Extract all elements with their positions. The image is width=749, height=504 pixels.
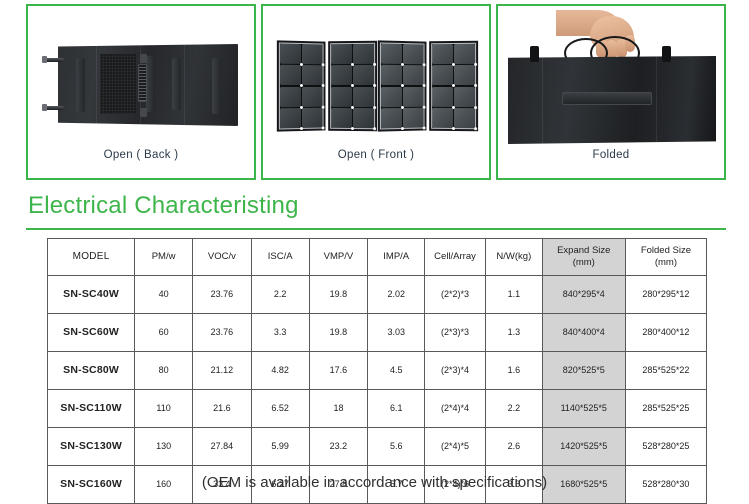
- table-row: SN-SC60W6023.763.319.83.03(2*3)*31.3840*…: [48, 314, 707, 352]
- oem-footnote: (OEM is available in accordance with spe…: [0, 472, 749, 493]
- table-header-row: MODEL PM/w VOC/v ISC/A VMP/V IMP/A Cell/…: [48, 239, 707, 276]
- folded-size-label: Folded Size: [641, 245, 691, 256]
- column-header-pm: PM/w: [135, 239, 193, 276]
- table-row: SN-SC40W4023.762.219.82.02(2*2)*31.1840*…: [48, 276, 707, 314]
- cell-expand-size: 840*295*4: [542, 276, 625, 314]
- cell-net-weight: 2.6: [485, 428, 542, 466]
- column-header-net-weight: N/W(kg): [485, 239, 542, 276]
- cell-net-weight: 1.6: [485, 352, 542, 390]
- cell-voc: 21.6: [192, 390, 251, 428]
- column-header-cell-array: Cell/Array: [425, 239, 486, 276]
- column-header-expand-size: Expand Size (mm): [542, 239, 625, 276]
- cell-isc: 3.3: [251, 314, 309, 352]
- expand-size-unit: (mm): [573, 257, 595, 268]
- cell-imp: 3.03: [368, 314, 425, 352]
- cell-voc: 27.84: [192, 428, 251, 466]
- cell-cell-array: (2*3)*3: [425, 314, 486, 352]
- cell-cell-array: (2*3)*4: [425, 352, 486, 390]
- cell-model: SN-SC130W: [48, 428, 135, 466]
- cell-vmp: 19.8: [309, 314, 368, 352]
- cell-vmp: 18: [309, 390, 368, 428]
- cell-vmp: 17.6: [309, 352, 368, 390]
- cell-cell-array: (2*2)*3: [425, 276, 486, 314]
- cell-expand-size: 820*525*5: [542, 352, 625, 390]
- column-header-vmp: VMP/V: [309, 239, 368, 276]
- cell-expand-size: 840*400*4: [542, 314, 625, 352]
- solar-panel-open-back-photo: [28, 6, 254, 148]
- cell-net-weight: 2.2: [485, 390, 542, 428]
- cell-folded-size: 528*280*25: [625, 428, 706, 466]
- cell-expand-size: 1140*525*5: [542, 390, 625, 428]
- photo-caption-folded: Folded: [593, 150, 630, 162]
- electrical-characteristics-table: MODEL PM/w VOC/v ISC/A VMP/V IMP/A Cell/…: [47, 238, 707, 504]
- column-header-folded-size: Folded Size (mm): [625, 239, 706, 276]
- cell-isc: 2.2: [251, 276, 309, 314]
- table-row: SN-SC110W11021.66.52186.1(2*4)*42.21140*…: [48, 390, 707, 428]
- cell-pm: 130: [135, 428, 193, 466]
- photo-caption-open-back: Open ( Back ): [104, 150, 179, 162]
- cell-folded-size: 285*525*25: [625, 390, 706, 428]
- cell-vmp: 19.8: [309, 276, 368, 314]
- cell-voc: 21.12: [192, 352, 251, 390]
- cell-model: SN-SC80W: [48, 352, 135, 390]
- cell-isc: 5.99: [251, 428, 309, 466]
- cell-imp: 5.6: [368, 428, 425, 466]
- column-header-model: MODEL: [48, 239, 135, 276]
- column-header-voc: VOC/v: [192, 239, 251, 276]
- cell-pm: 110: [135, 390, 193, 428]
- cell-folded-size: 280*400*12: [625, 314, 706, 352]
- cell-model: SN-SC40W: [48, 276, 135, 314]
- photo-card-open-front[interactable]: Open ( Front ): [261, 4, 491, 180]
- photo-caption-open-front: Open ( Front ): [338, 150, 414, 162]
- cell-folded-size: 285*525*22: [625, 352, 706, 390]
- page-title: Electrical Characteristing: [28, 194, 299, 218]
- table-row: SN-SC80W8021.124.8217.64.5(2*3)*41.6820*…: [48, 352, 707, 390]
- cell-isc: 4.82: [251, 352, 309, 390]
- cell-expand-size: 1420*525*5: [542, 428, 625, 466]
- cell-voc: 23.76: [192, 276, 251, 314]
- heading-divider: [26, 228, 726, 230]
- cell-imp: 4.5: [368, 352, 425, 390]
- column-header-isc: ISC/A: [251, 239, 309, 276]
- column-header-imp: IMP/A: [368, 239, 425, 276]
- cell-pm: 80: [135, 352, 193, 390]
- solar-panel-open-front-photo: [263, 6, 489, 148]
- cell-cell-array: (2*4)*4: [425, 390, 486, 428]
- cell-vmp: 23.2: [309, 428, 368, 466]
- expand-size-label: Expand Size: [557, 245, 610, 256]
- cell-isc: 6.52: [251, 390, 309, 428]
- cell-imp: 6.1: [368, 390, 425, 428]
- cell-net-weight: 1.3: [485, 314, 542, 352]
- photo-card-folded[interactable]: Folded: [496, 4, 726, 180]
- cell-cell-array: (2*4)*5: [425, 428, 486, 466]
- photo-card-open-back[interactable]: Open ( Back ): [26, 4, 256, 180]
- cell-imp: 2.02: [368, 276, 425, 314]
- table-body: SN-SC40W4023.762.219.82.02(2*2)*31.1840*…: [48, 276, 707, 504]
- cell-model: SN-SC110W: [48, 390, 135, 428]
- folded-size-unit: (mm): [655, 257, 677, 268]
- cell-net-weight: 1.1: [485, 276, 542, 314]
- cell-pm: 40: [135, 276, 193, 314]
- cell-folded-size: 280*295*12: [625, 276, 706, 314]
- cell-voc: 23.76: [192, 314, 251, 352]
- cell-pm: 60: [135, 314, 193, 352]
- solar-panel-folded-photo: [498, 6, 724, 148]
- cell-model: SN-SC60W: [48, 314, 135, 352]
- table-row: SN-SC130W13027.845.9923.25.6(2*4)*52.614…: [48, 428, 707, 466]
- product-photo-gallery: Open ( Back ): [26, 4, 726, 180]
